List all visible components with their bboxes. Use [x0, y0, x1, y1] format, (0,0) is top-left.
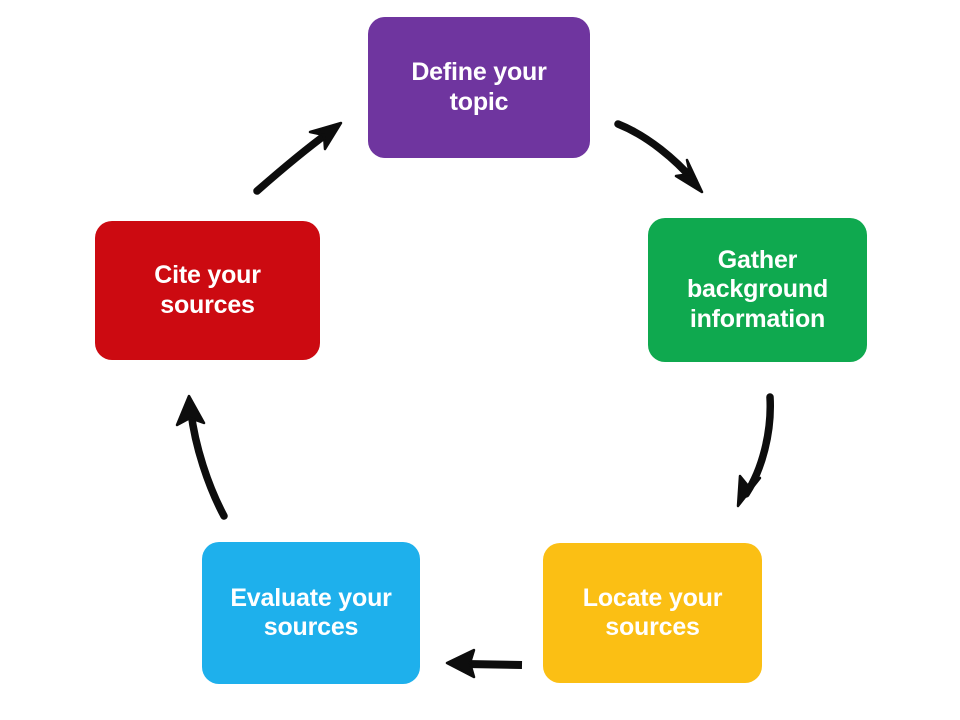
- node-gather-label: Gather background information: [687, 246, 828, 335]
- node-evaluate-your-sources[interactable]: Evaluate your sources: [202, 542, 420, 684]
- node-locate-label: Locate your sources: [583, 584, 723, 643]
- node-cite-label: Cite your sources: [154, 261, 261, 320]
- node-locate-your-sources[interactable]: Locate your sources: [543, 543, 762, 683]
- diagram-canvas: Define your topic Gather background info…: [0, 0, 960, 720]
- arrow-evaluate-to-cite: [177, 396, 224, 516]
- arrow-define-to-gather: [618, 124, 702, 192]
- node-cite-your-sources[interactable]: Cite your sources: [95, 221, 320, 360]
- node-gather-background-information[interactable]: Gather background information: [648, 218, 867, 362]
- node-evaluate-label: Evaluate your sources: [230, 584, 391, 643]
- node-define-your-topic[interactable]: Define your topic: [368, 17, 590, 158]
- node-define-label: Define your topic: [411, 58, 546, 117]
- arrow-cite-to-define: [257, 123, 341, 191]
- arrow-locate-to-evaluate: [447, 650, 522, 677]
- arrow-gather-to-locate: [738, 397, 770, 506]
